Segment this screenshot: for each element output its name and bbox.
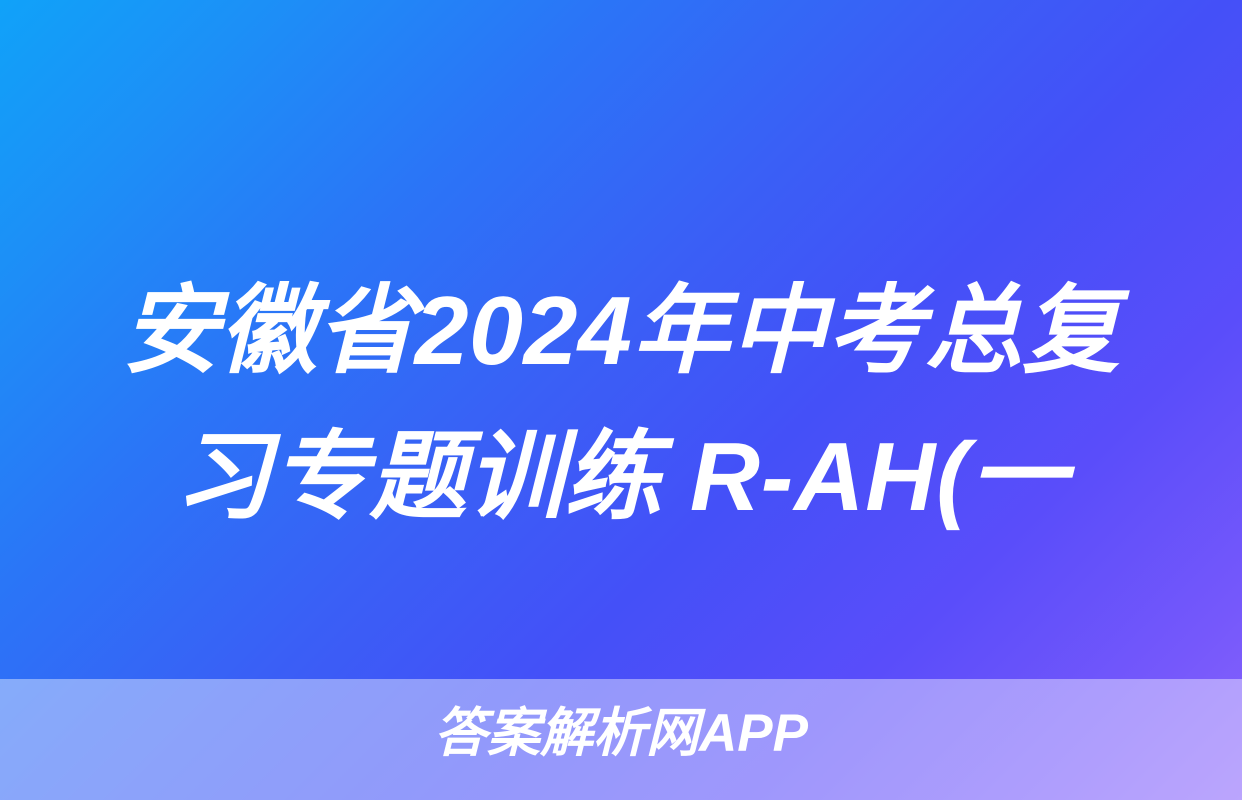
title-line-2-cjk: 习专题训练 (174, 422, 662, 531)
title-line-2-latin: R-AH(一 (662, 422, 1068, 531)
watermark-label: 答案解析网APP (434, 704, 808, 763)
title-line-1: 安徽省2024年中考总复 (40, 258, 1202, 404)
title-line-2: 习专题训练 R-AH(一 (40, 404, 1202, 550)
watermark: 答案解析网APP (0, 703, 1242, 765)
page-title: 安徽省2024年中考总复 习专题训练 R-AH(一 (0, 258, 1242, 550)
poster-canvas: 安徽省2024年中考总复 习专题训练 R-AH(一 答案解析网APP (0, 0, 1242, 800)
